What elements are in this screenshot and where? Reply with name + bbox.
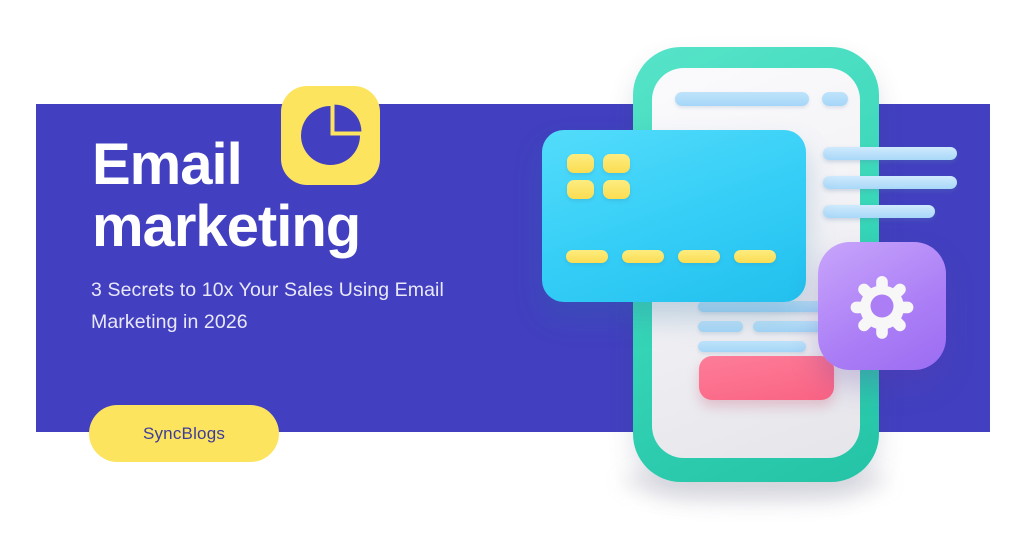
card-chip-4 [603, 180, 630, 199]
brand-button[interactable]: SyncBlogs [89, 405, 279, 462]
pie-chart-icon-tile [281, 86, 380, 185]
page-subtitle: 3 Secrets to 10x Your Sales Using Email … [91, 274, 521, 338]
float-bar-1 [823, 147, 957, 160]
screen-text-line-2a [698, 321, 743, 332]
credit-card [542, 130, 806, 302]
screen-badge-dot [822, 92, 848, 106]
card-chip-3 [567, 180, 594, 199]
brand-button-label: SyncBlogs [143, 424, 225, 444]
card-number-group-3 [678, 250, 720, 263]
settings-tile[interactable] [818, 242, 946, 370]
float-bar-2 [823, 176, 957, 189]
email-marketing-banner: Email marketing 3 Secrets to 10x Your Sa… [0, 0, 1024, 538]
card-number-group-2 [622, 250, 664, 263]
gear-icon [845, 269, 919, 343]
hero-illustration [520, 30, 1000, 500]
float-bar-3 [823, 205, 935, 218]
screen-title-bar [675, 92, 809, 106]
card-number-group-4 [734, 250, 776, 263]
card-number-group-1 [566, 250, 608, 263]
screen-text-line-3 [698, 341, 806, 352]
pie-chart-icon [281, 86, 380, 185]
screen-text-line-1 [698, 301, 828, 312]
card-chip-2 [603, 154, 630, 173]
card-chip-1 [567, 154, 594, 173]
screen-cta-button[interactable] [699, 356, 834, 400]
